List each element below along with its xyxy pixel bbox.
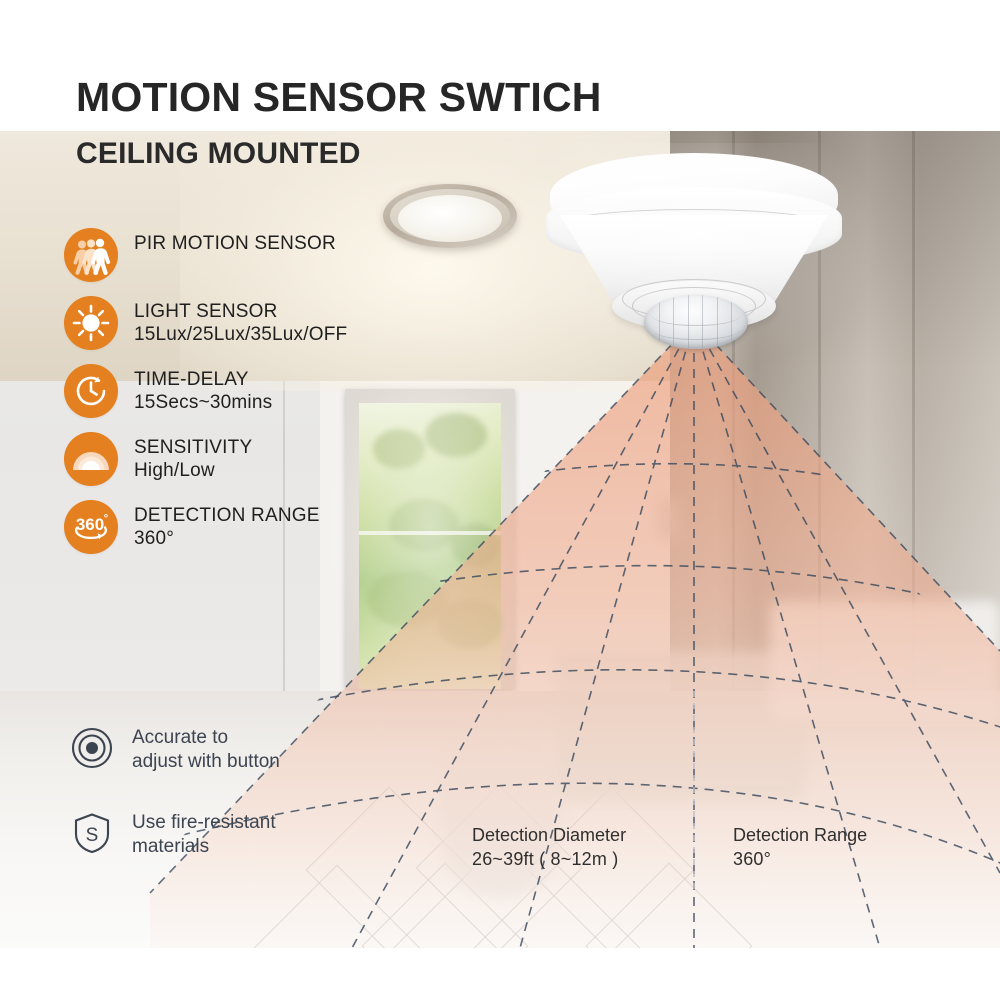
shield-s-icon: S [70, 811, 114, 855]
feature-text: LIGHT SENSOR 15Lux/25Lux/35Lux/OFF [134, 296, 347, 347]
secondary-line-2: materials [132, 835, 276, 859]
feature-label: TIME-DELAY [134, 369, 272, 391]
feature-value: High/Low [134, 459, 252, 482]
feature-text: SENSITIVITY High/Low [134, 432, 252, 483]
feature-label: LIGHT SENSOR [134, 301, 347, 323]
caption-value: 26~39ft ( 8~12m ) [472, 847, 626, 871]
feature-text: TIME-DELAY 15Secs~30mins [134, 364, 272, 415]
ceiling-light-fixture [383, 184, 517, 248]
feature-label: DETECTION RANGE [134, 505, 320, 527]
svg-text:360: 360 [76, 515, 104, 534]
feature-list: PIR MOTION SENSOR [64, 228, 394, 568]
concentric-target-icon [70, 726, 114, 770]
feature-value: 360° [134, 527, 320, 550]
secondary-item-fire-resistant: S Use fire-resistant materials [70, 811, 400, 860]
feature-text: PIR MOTION SENSOR [134, 228, 336, 255]
page-subtitle: CEILING MOUNTED [76, 137, 361, 171]
feature-value: 15Lux/25Lux/35Lux/OFF [134, 323, 347, 346]
sun-light-sensor-icon [64, 296, 118, 350]
svg-text:°: ° [104, 513, 108, 525]
svg-text:S: S [86, 825, 99, 846]
secondary-text: Accurate to adjust with button [132, 726, 280, 775]
appliance-blur [556, 651, 806, 801]
feature-item-detection-range: 360 ° DETECTION RANGE 360° [64, 500, 394, 554]
feature-label: SENSITIVITY [134, 437, 252, 459]
caption-title: Detection Range [733, 823, 867, 847]
feature-label: PIR MOTION SENSOR [134, 233, 336, 255]
feature-item-light-sensor: LIGHT SENSOR 15Lux/25Lux/35Lux/OFF [64, 296, 394, 350]
caption-detection-diameter: Detection Diameter 26~39ft ( 8~12m ) [472, 823, 626, 872]
360-degrees-icon: 360 ° [64, 500, 118, 554]
feature-item-time-delay: TIME-DELAY 15Secs~30mins [64, 364, 394, 418]
caption-title: Detection Diameter [472, 823, 626, 847]
ceiling-motion-sensor-device [536, 153, 852, 363]
caption-detection-range: Detection Range 360° [733, 823, 867, 872]
signal-waves-sensitivity-icon [64, 432, 118, 486]
secondary-feature-list: Accurate to adjust with button S Use fir… [70, 726, 400, 895]
feature-item-pir-motion-sensor: PIR MOTION SENSOR [64, 228, 394, 282]
secondary-item-accurate-adjust: Accurate to adjust with button [70, 726, 400, 775]
feature-value: 15Secs~30mins [134, 391, 272, 414]
secondary-line-1: Use fire-resistant [132, 811, 276, 835]
caption-value: 360° [733, 847, 867, 871]
counter-blur [770, 601, 1000, 721]
clock-time-delay-icon [64, 364, 118, 418]
wall-outlet-blur [658, 499, 680, 539]
secondary-line-2: adjust with button [132, 750, 280, 774]
feature-item-sensitivity: SENSITIVITY High/Low [64, 432, 394, 486]
stool-blur [440, 729, 560, 899]
feature-text: DETECTION RANGE 360° [134, 500, 320, 551]
page-title: MOTION SENSOR SWTICH [76, 74, 602, 121]
walking-people-icon [64, 228, 118, 282]
secondary-line-1: Accurate to [132, 726, 280, 750]
secondary-text: Use fire-resistant materials [132, 811, 276, 860]
product-infographic: MOTION SENSOR SWTICH CEILING MOUNTED [0, 0, 1000, 1000]
